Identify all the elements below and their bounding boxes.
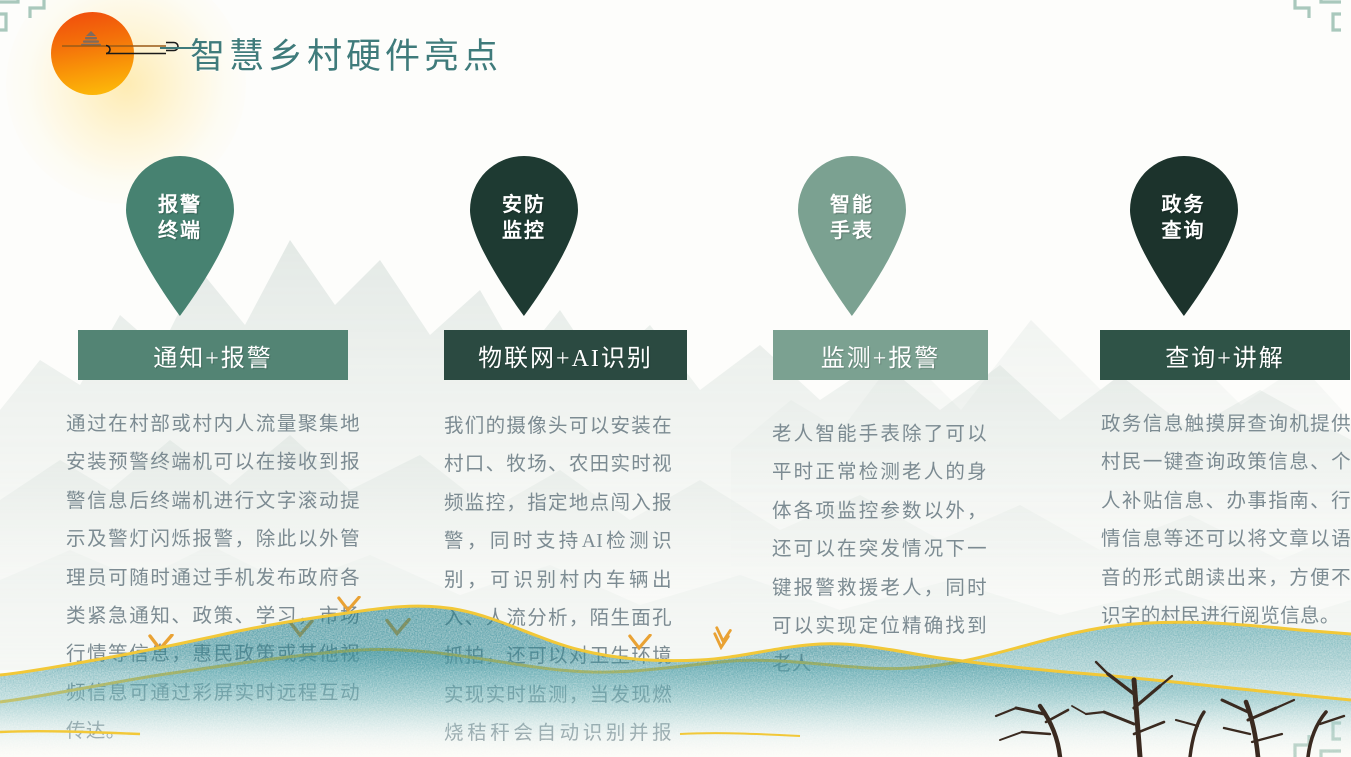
pin-label-2: 安防 监控 [502, 192, 546, 245]
corner-frame-icon [1275, 0, 1341, 56]
foreground-landscape [0, 582, 1351, 757]
pin-label-1: 报警 终端 [158, 192, 202, 245]
mountain-range-icon [0, 582, 1351, 757]
pin-marker-4[interactable]: 政务 查询 [1016, 148, 1351, 320]
title-dash [160, 47, 194, 49]
pin-marker-3[interactable]: 智能 手表 [688, 148, 1016, 320]
band-label-3[interactable]: 监测+报警 [773, 330, 988, 380]
band-label-1[interactable]: 通知+报警 [78, 330, 348, 380]
scroll-ornament-icon [62, 40, 182, 64]
pin-label-4: 政务 查询 [1162, 192, 1206, 245]
corner-frame-top-right [1275, 0, 1341, 56]
pin-marker-2[interactable]: 安防 监控 [360, 148, 688, 320]
pin-label-3: 智能 手表 [830, 192, 874, 245]
page-title: 智慧乡村硬件亮点 [190, 28, 502, 79]
band-label-4[interactable]: 查询+讲解 [1100, 330, 1350, 380]
slide-header: 智慧乡村硬件亮点 [0, 0, 760, 110]
pin-marker-1[interactable]: 报警 终端 [0, 148, 360, 320]
band-label-2[interactable]: 物联网+AI识别 [444, 330, 687, 380]
slide-canvas: 智慧乡村硬件亮点 报警 终端 通知+报警 通过在村部或村内人流量聚集地安装预警终… [0, 0, 1351, 757]
